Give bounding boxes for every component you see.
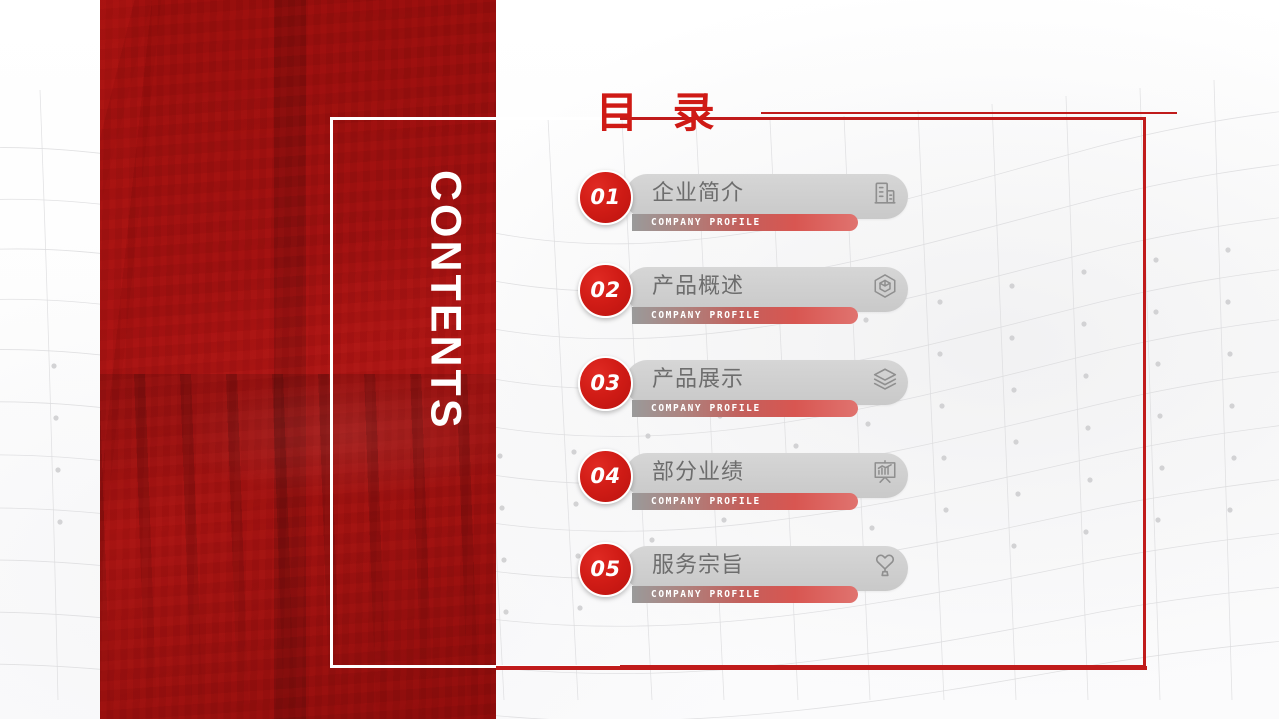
toc-item-subtitle: COMPANY PROFILE xyxy=(651,587,761,602)
toc-number-text: 01 xyxy=(590,187,620,208)
toc-item-subtitle: COMPANY PROFILE xyxy=(651,494,761,509)
toc-number-badge: 01 xyxy=(578,170,633,225)
toc-item-label: 产品概述 xyxy=(652,274,744,300)
toc-item-02[interactable]: 产品概述 COMPANY PROFILE 02 xyxy=(578,263,918,333)
page-title-row: 目 录 xyxy=(596,92,1177,134)
toc-number-text: 03 xyxy=(590,373,620,394)
toc-item-subtitle: COMPANY PROFILE xyxy=(651,401,761,416)
toc-item-05[interactable]: 服务宗旨 COMPANY PROFILE 05 xyxy=(578,542,918,612)
layers-icon xyxy=(872,366,898,392)
table-of-contents-list: 企业简介 COMPANY PROFILE 01 产品概述 xyxy=(578,170,918,612)
toc-number-text: 02 xyxy=(590,280,620,301)
heart-trophy-icon xyxy=(872,552,898,578)
toc-item-01[interactable]: 企业简介 COMPANY PROFILE 01 xyxy=(578,170,918,240)
toc-item-label: 服务宗旨 xyxy=(652,553,744,579)
toc-item-subtitle: COMPANY PROFILE xyxy=(651,215,761,230)
toc-number-badge: 03 xyxy=(578,356,633,411)
contents-vertical-label-text: CONTENTS xyxy=(424,170,467,431)
toc-item-subtitle: COMPANY PROFILE xyxy=(651,308,761,323)
title-underline-rule xyxy=(761,112,1177,114)
page-title: 目 录 xyxy=(596,92,725,134)
frame-bottom-rule xyxy=(496,666,1147,670)
toc-item-label: 部分业绩 xyxy=(652,460,744,486)
toc-item-03[interactable]: 产品展示 COMPANY PROFILE 03 xyxy=(578,356,918,426)
toc-item-label: 企业简介 xyxy=(652,181,744,207)
building-icon xyxy=(872,180,898,206)
contents-vertical-label: CONTENTS xyxy=(415,170,475,590)
hexagon-cube-icon xyxy=(872,273,898,299)
toc-number-badge: 04 xyxy=(578,449,633,504)
toc-number-text: 04 xyxy=(590,466,620,487)
toc-item-label: 产品展示 xyxy=(652,367,744,393)
toc-number-text: 05 xyxy=(590,559,620,580)
presentation-chart-icon xyxy=(872,459,898,485)
toc-item-04[interactable]: 部分业绩 COMPANY PROFILE 04 xyxy=(578,449,918,519)
presentation-slide: CONTENTS 目 录 企业简介 COMPANY PROFILE xyxy=(0,0,1279,719)
toc-number-badge: 05 xyxy=(578,542,633,597)
toc-number-badge: 02 xyxy=(578,263,633,318)
